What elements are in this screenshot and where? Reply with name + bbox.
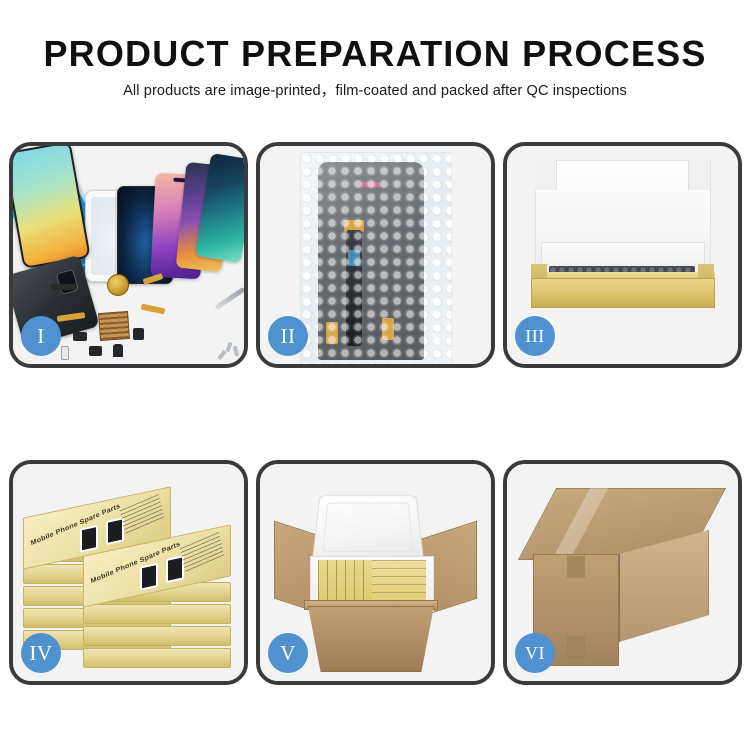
panel-foot-right: [382, 318, 394, 340]
step-panel-1: I: [9, 142, 248, 368]
step-badge-1: I: [21, 316, 61, 356]
step-badge-6: VI: [515, 633, 555, 673]
vibration-motor-coil: [107, 274, 129, 296]
step-badge-3: III: [515, 316, 555, 356]
copper-contact-grid: [98, 311, 130, 341]
box-spec-text-a: [120, 494, 165, 535]
component-chip-5: [61, 346, 69, 360]
repair-tweezers: [215, 287, 246, 310]
box-spec-text-b: [180, 532, 225, 573]
screw-2: [233, 346, 239, 357]
page-subtitle: All products are image-printed，film-coat…: [0, 82, 750, 100]
box-screen-image-a1: [80, 525, 98, 553]
step-badge-5: V: [268, 633, 308, 673]
step-panel-5: V: [256, 460, 495, 685]
component-chip-2: [133, 328, 144, 340]
process-steps-grid: I II: [9, 142, 741, 685]
stacked-box-b2: [83, 648, 231, 668]
screw-1: [225, 342, 232, 353]
step-badge-2: II: [268, 316, 308, 356]
carton-body: [308, 606, 434, 672]
component-chip-4: [113, 344, 123, 357]
page-title: PRODUCT PREPARATION PROCESS: [0, 34, 750, 74]
carton-tab-upper: [567, 556, 585, 578]
lid-flap-left: [535, 160, 557, 190]
step-panel-2: II: [256, 142, 495, 368]
carton-tab-lower: [567, 636, 585, 658]
step-panel-6: VI: [503, 460, 742, 685]
panel-flex-cable: [346, 230, 362, 346]
kraft-box-front: [531, 278, 715, 308]
step-badge-4: IV: [21, 633, 61, 673]
panel-foot-left: [326, 322, 338, 344]
box-screen-image-b1: [140, 563, 158, 591]
component-chip-1: [73, 332, 87, 341]
header: PRODUCT PREPARATION PROCESS All products…: [0, 34, 750, 100]
stacked-box-b3: [83, 626, 231, 646]
component-chip-3: [89, 346, 102, 356]
lid-flap-right: [688, 160, 710, 190]
panel-label-sticker: [361, 182, 381, 187]
packed-boxes-row-2: [372, 560, 426, 604]
carton-corner-seam: [619, 554, 620, 642]
stacked-box-b4: [83, 604, 231, 624]
flex-cable-2: [141, 304, 166, 315]
foam-lid: [312, 495, 424, 561]
assembled-phone-front: [9, 142, 91, 269]
product-preparation-process-infographic: PRODUCT PREPARATION PROCESS All products…: [0, 0, 750, 750]
screw-3: [217, 350, 226, 360]
driver-ic: [348, 250, 360, 266]
step-panel-4: Mobile Phone Spare Parts Mobile Phone Sp…: [9, 460, 248, 685]
speaker-module: [51, 284, 77, 290]
step-panel-3: III: [503, 142, 742, 368]
